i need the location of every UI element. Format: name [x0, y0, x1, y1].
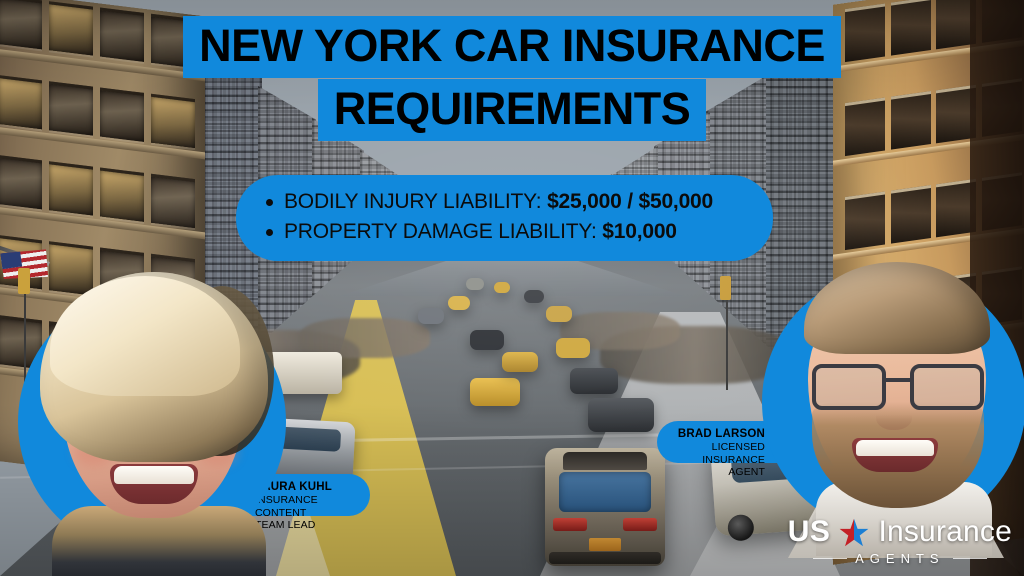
car-distant-2 [494, 282, 510, 293]
title-line-1: NEW YORK CAR INSURANCE [183, 16, 841, 78]
requirements-list: BODILY INJURY LIABILITY: $25,000 / $50,0… [262, 187, 747, 247]
nametag-role-line-1: LICENSED INSURANCE [673, 441, 765, 466]
requirement-item-bodily-injury: BODILY INJURY LIABILITY: $25,000 / $50,0… [284, 187, 747, 217]
car-distant-8 [556, 338, 590, 358]
car-distant-4 [448, 296, 470, 310]
avatar-laura-kuhl [10, 268, 300, 576]
requirements-callout: BODILY INJURY LIABILITY: $25,000 / $50,0… [236, 175, 773, 261]
requirement-label: BODILY INJURY LIABILITY: [284, 190, 541, 213]
logo-word-us: US [788, 515, 831, 549]
eyeglasses-icon [812, 364, 984, 410]
car-foreground-suv [545, 448, 665, 566]
promo-graphic: NEW YORK CAR INSURANCE REQUIREMENTS BODI… [0, 0, 1024, 576]
logo-rule-left [813, 558, 847, 559]
requirement-label: PROPERTY DAMAGE LIABILITY: [284, 220, 597, 243]
car-distant-3 [524, 290, 544, 303]
traffic-signal-light-right [720, 276, 731, 300]
logo-rule-right [953, 558, 987, 559]
requirement-item-property-damage: PROPERTY DAMAGE LIABILITY: $10,000 [284, 217, 747, 247]
car-dark-2 [588, 398, 654, 432]
car-distant-7 [470, 330, 504, 350]
car-dark-1 [570, 368, 618, 394]
nametag-role-line-2: AGENT [673, 466, 765, 479]
logo-wordmark: US Insurance [788, 515, 1012, 549]
nametag-name: BRAD LARSON [673, 428, 765, 441]
logo-word-insurance: Insurance [878, 515, 1012, 549]
car-distant-6 [418, 308, 444, 324]
car-distant-5 [546, 306, 572, 322]
avatar-brad-larson [768, 252, 1020, 552]
logo-subtitle-row: AGENTS [788, 551, 1012, 566]
requirement-value: $10,000 [602, 220, 677, 243]
car-yellow-cab-2 [502, 352, 538, 372]
car-distant-1 [466, 278, 484, 290]
logo-word-agents: AGENTS [855, 551, 944, 566]
title-line-2: REQUIREMENTS [318, 79, 707, 141]
title-banner: NEW YORK CAR INSURANCE REQUIREMENTS [0, 16, 1024, 141]
car-yellow-cab-1 [470, 378, 520, 406]
requirement-value: $25,000 / $50,000 [547, 190, 713, 213]
brand-logo[interactable]: US Insurance AGENTS [788, 515, 1012, 566]
star-icon [839, 518, 869, 547]
